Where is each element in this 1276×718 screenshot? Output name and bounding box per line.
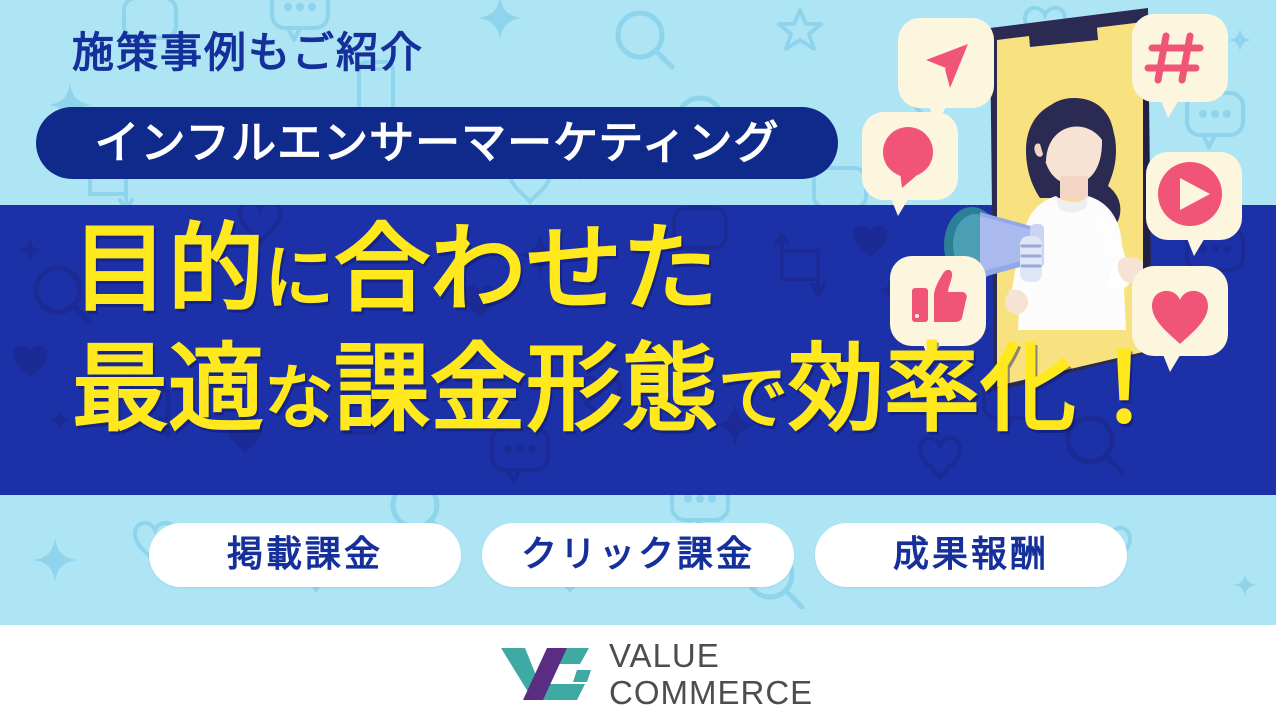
bubble-comment: [862, 112, 958, 216]
subtitle-text: インフルエンサーマーケティング: [94, 120, 779, 165]
valuecommerce-wordmark: VALUE COMMERCE: [609, 639, 813, 709]
bubble-send: [898, 18, 994, 124]
valuecommerce-logo-mark: [497, 642, 593, 706]
bubble-like: [890, 256, 986, 362]
logo-word-commerce: COMMERCE: [609, 676, 813, 709]
eyebrow-text: 施策事例もご紹介: [72, 32, 424, 74]
play-icon: [1158, 162, 1222, 226]
subtitle-pill: インフルエンサーマーケティング: [36, 107, 838, 179]
promo-banner: 施策事例もご紹介 インフルエンサーマーケティング 目的に合わせた 最適な課金形態…: [0, 0, 1276, 718]
logo-word-value: VALUE: [609, 639, 813, 672]
pricing-model-pills: 掲載課金 クリック課金 成果報酬: [0, 523, 1276, 587]
pill-impression-billing-label: 掲載課金: [227, 536, 383, 572]
influencer-illustration: [860, 0, 1276, 400]
bubble-heart: [1132, 266, 1228, 372]
pill-click-billing-label: クリック課金: [521, 536, 755, 572]
bubble-play: [1146, 152, 1242, 256]
pill-performance-reward[interactable]: 成果報酬: [815, 523, 1127, 587]
pill-impression-billing[interactable]: 掲載課金: [149, 523, 461, 587]
valuecommerce-logo: VALUE COMMERCE: [497, 639, 813, 709]
pill-click-billing[interactable]: クリック課金: [482, 523, 794, 587]
pill-performance-reward-label: 成果報酬: [893, 536, 1049, 572]
